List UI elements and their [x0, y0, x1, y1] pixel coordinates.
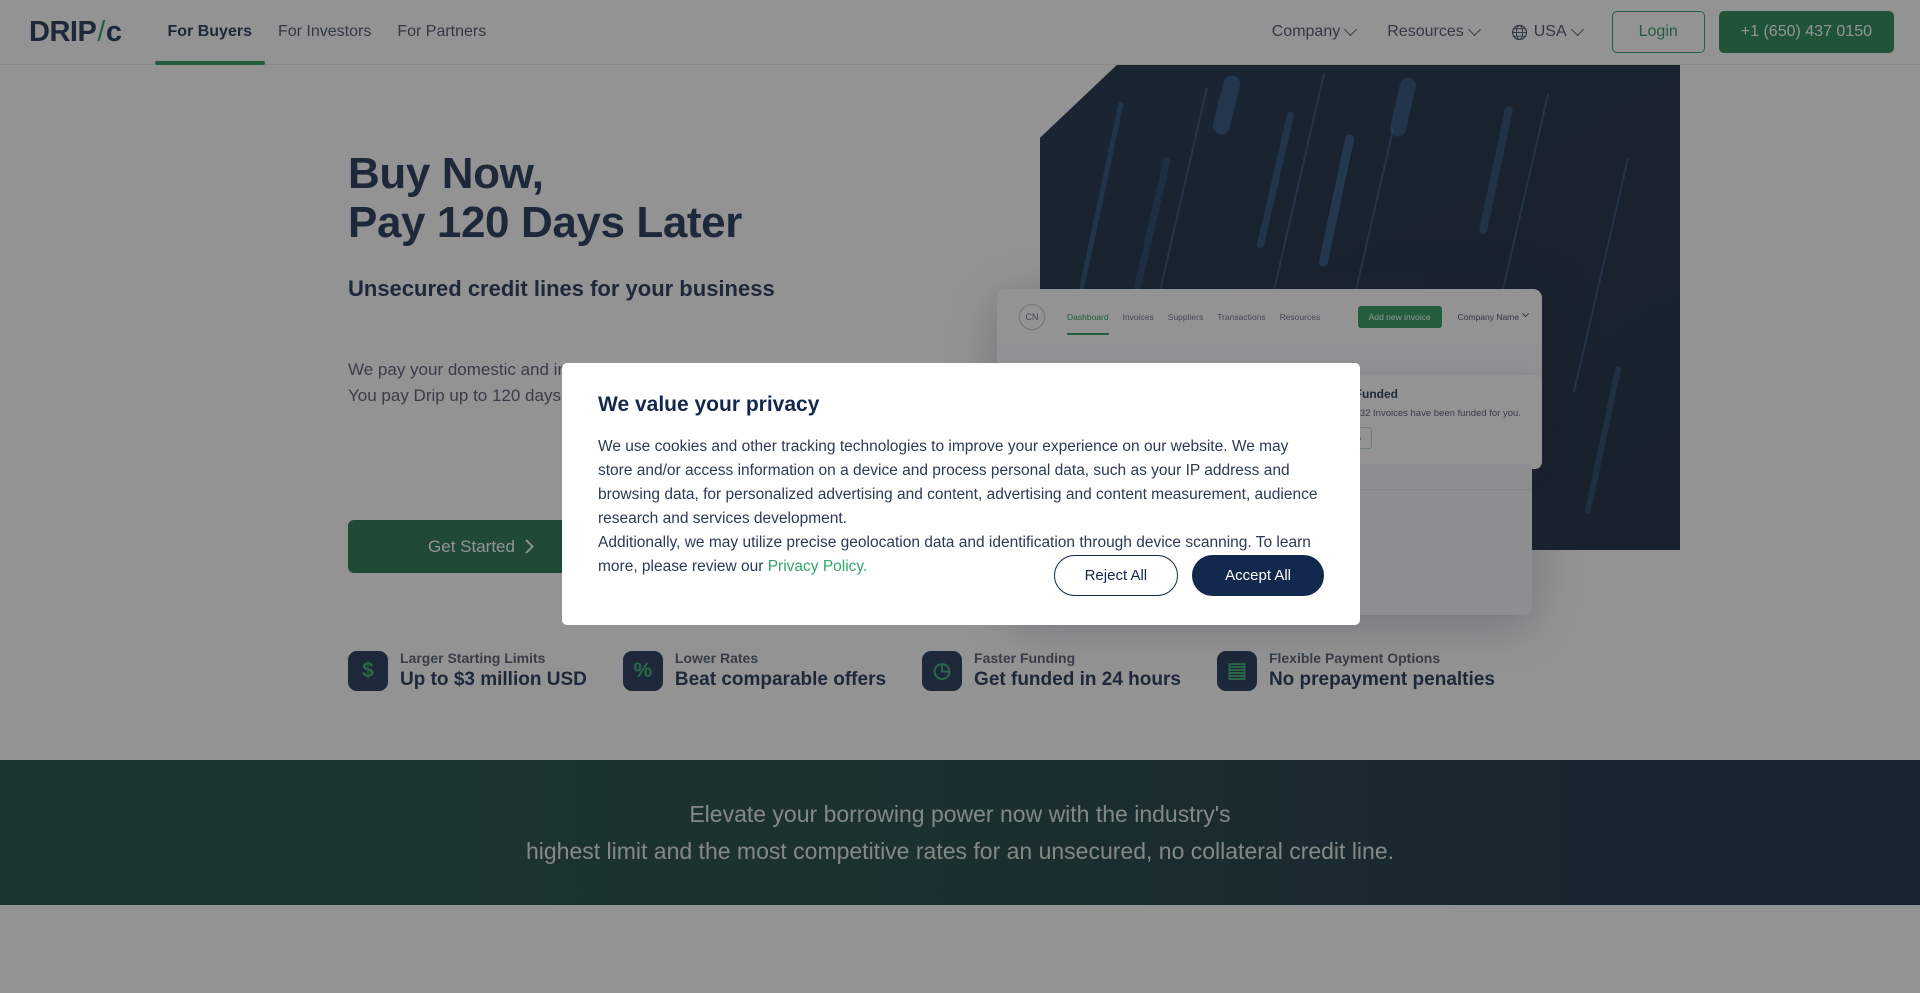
privacy-policy-link[interactable]: Privacy Policy. — [768, 558, 868, 575]
cookie-dialog-title: We value your privacy — [598, 393, 1324, 417]
accept-all-button[interactable]: Accept All — [1192, 555, 1324, 596]
cookie-consent-dialog: We value your privacy We use cookies and… — [562, 363, 1360, 625]
cookie-paragraph-1: We use cookies and other tracking techno… — [598, 435, 1324, 531]
cookie-dialog-actions: Reject All Accept All — [1054, 555, 1324, 596]
reject-all-button[interactable]: Reject All — [1054, 555, 1179, 596]
